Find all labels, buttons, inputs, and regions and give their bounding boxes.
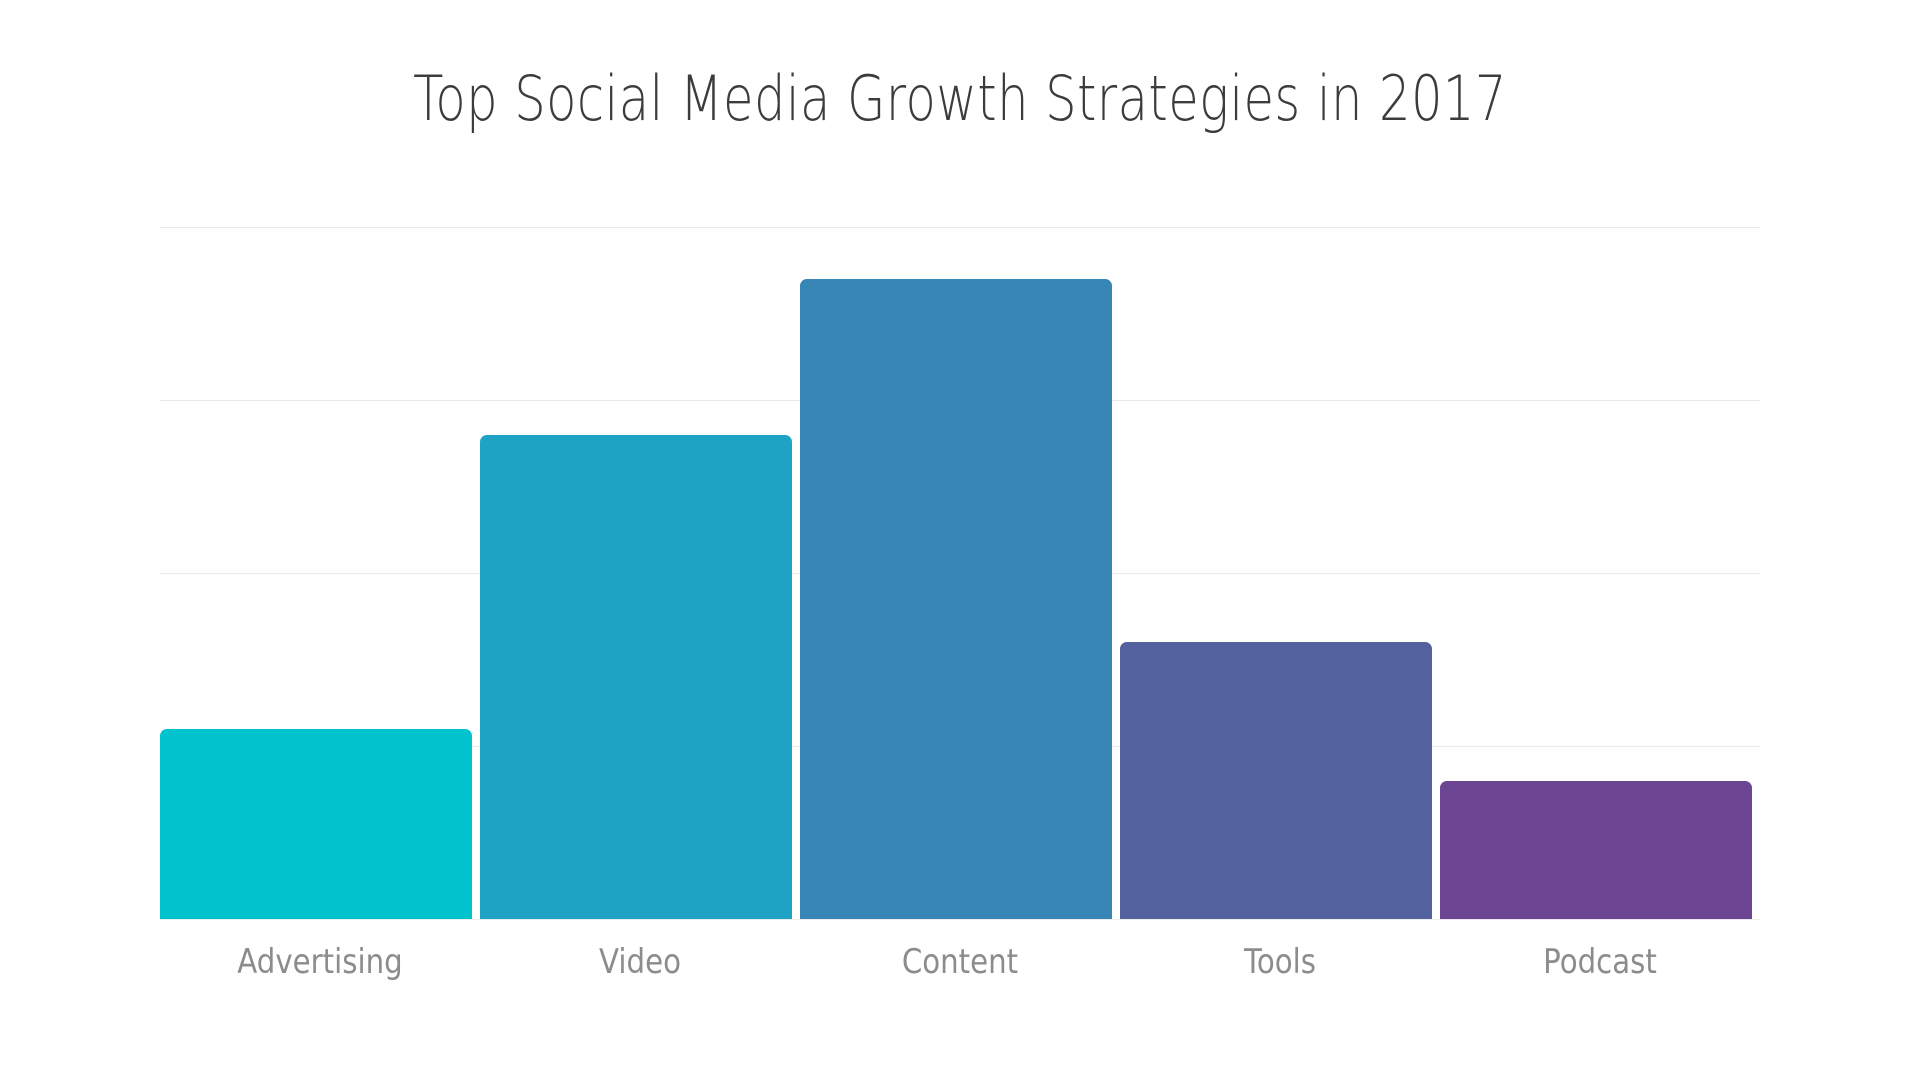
bars-group bbox=[160, 227, 1760, 919]
x-axis-tick-label-content: Content bbox=[822, 940, 1097, 984]
x-axis-tick-label-podcast: Podcast bbox=[1462, 940, 1737, 984]
bar-podcast[interactable] bbox=[1440, 781, 1752, 919]
chart-title: Top Social Media Growth Strategies in 20… bbox=[192, 60, 1728, 138]
bar-tools[interactable] bbox=[1120, 642, 1432, 919]
x-axis-tick-label-advertising: Advertising bbox=[182, 940, 457, 984]
bar-video[interactable] bbox=[480, 435, 792, 919]
x-axis-tick-label-video: Video bbox=[502, 940, 777, 984]
bar-content[interactable] bbox=[800, 279, 1112, 919]
gridline bbox=[160, 919, 1760, 920]
x-axis-tick-label-tools: Tools bbox=[1142, 940, 1417, 984]
bar-chart: Top Social Media Growth Strategies in 20… bbox=[0, 0, 1920, 1079]
x-axis-tick-labels: AdvertisingVideoContentToolsPodcast bbox=[160, 940, 1760, 1000]
plot-area: 010203040 bbox=[160, 227, 1760, 919]
bar-advertising[interactable] bbox=[160, 729, 472, 919]
